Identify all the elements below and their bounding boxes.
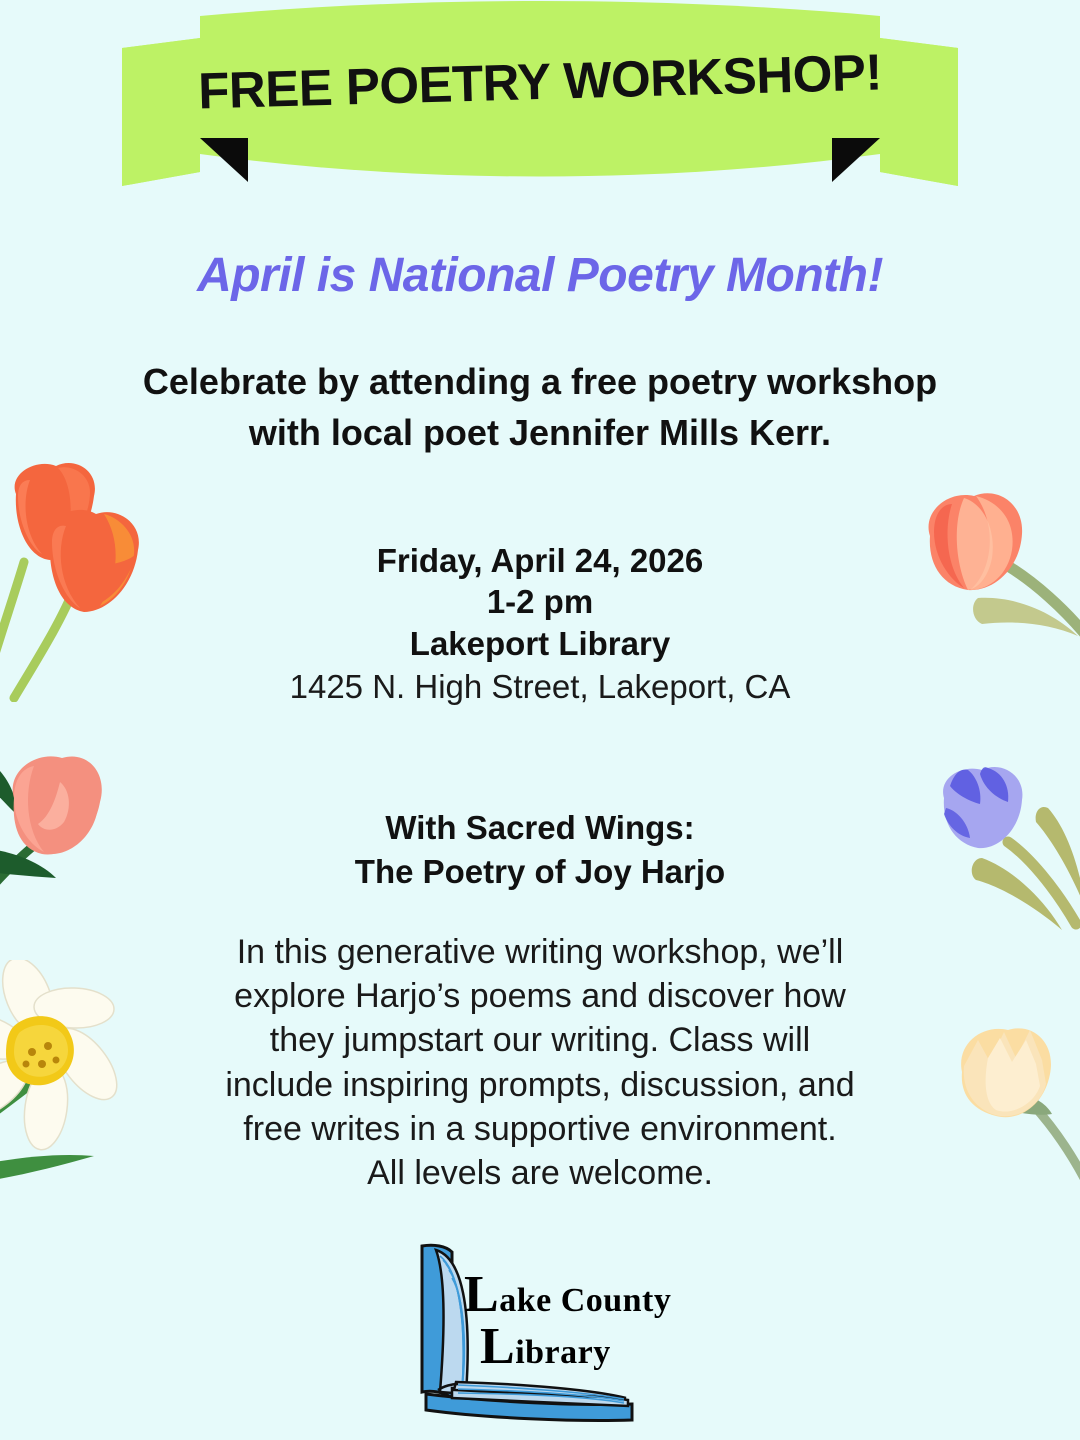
logo-text-rest-2: ibrary bbox=[515, 1334, 611, 1371]
description-line-2: explore Harjo’s poems and discover how bbox=[234, 977, 846, 1015]
event-venue: Lakeport Library bbox=[90, 623, 990, 664]
logo-text-lake-county: Lake County bbox=[464, 1282, 671, 1320]
logo-dropcap-l-2: L bbox=[480, 1318, 515, 1375]
workshop-title: With Sacred Wings: The Poetry of Joy Har… bbox=[90, 806, 990, 893]
logo-text-library: Library bbox=[480, 1334, 611, 1372]
workshop-description: In this generative writing workshop, we’… bbox=[120, 930, 960, 1195]
poster-content: April is National Poetry Month! Celebrat… bbox=[0, 0, 1080, 1440]
logo-text-rest-1: ake County bbox=[499, 1282, 671, 1319]
event-details: Friday, April 24, 2026 1-2 pm Lakeport L… bbox=[90, 540, 990, 707]
workshop-title-line-1: With Sacred Wings: bbox=[385, 809, 694, 846]
invite-block: Celebrate by attending a free poetry wor… bbox=[50, 356, 1030, 458]
description-line-5: free writes in a supportive environment. bbox=[243, 1110, 836, 1148]
lake-county-library-logo: Lake County Library bbox=[400, 1238, 680, 1433]
invite-line-1: Celebrate by attending a free poetry wor… bbox=[143, 361, 937, 402]
event-time: 1-2 pm bbox=[90, 581, 990, 622]
poster-canvas: FREE POETRY WORKSHOP! bbox=[0, 0, 1080, 1440]
description-line-6: All levels are welcome. bbox=[367, 1154, 713, 1192]
event-date: Friday, April 24, 2026 bbox=[90, 540, 990, 581]
month-headline: April is National Poetry Month! bbox=[0, 248, 1080, 303]
invite-line-2: with local poet Jennifer Mills Kerr. bbox=[249, 412, 831, 453]
description-line-1: In this generative writing workshop, we’… bbox=[237, 933, 844, 971]
description-line-4: include inspiring prompts, discussion, a… bbox=[225, 1066, 854, 1104]
event-address: 1425 N. High Street, Lakeport, CA bbox=[90, 666, 990, 707]
logo-dropcap-l-1: L bbox=[464, 1266, 499, 1323]
workshop-title-line-2: The Poetry of Joy Harjo bbox=[355, 853, 725, 890]
description-line-3: they jumpstart our writing. Class will bbox=[270, 1021, 810, 1059]
